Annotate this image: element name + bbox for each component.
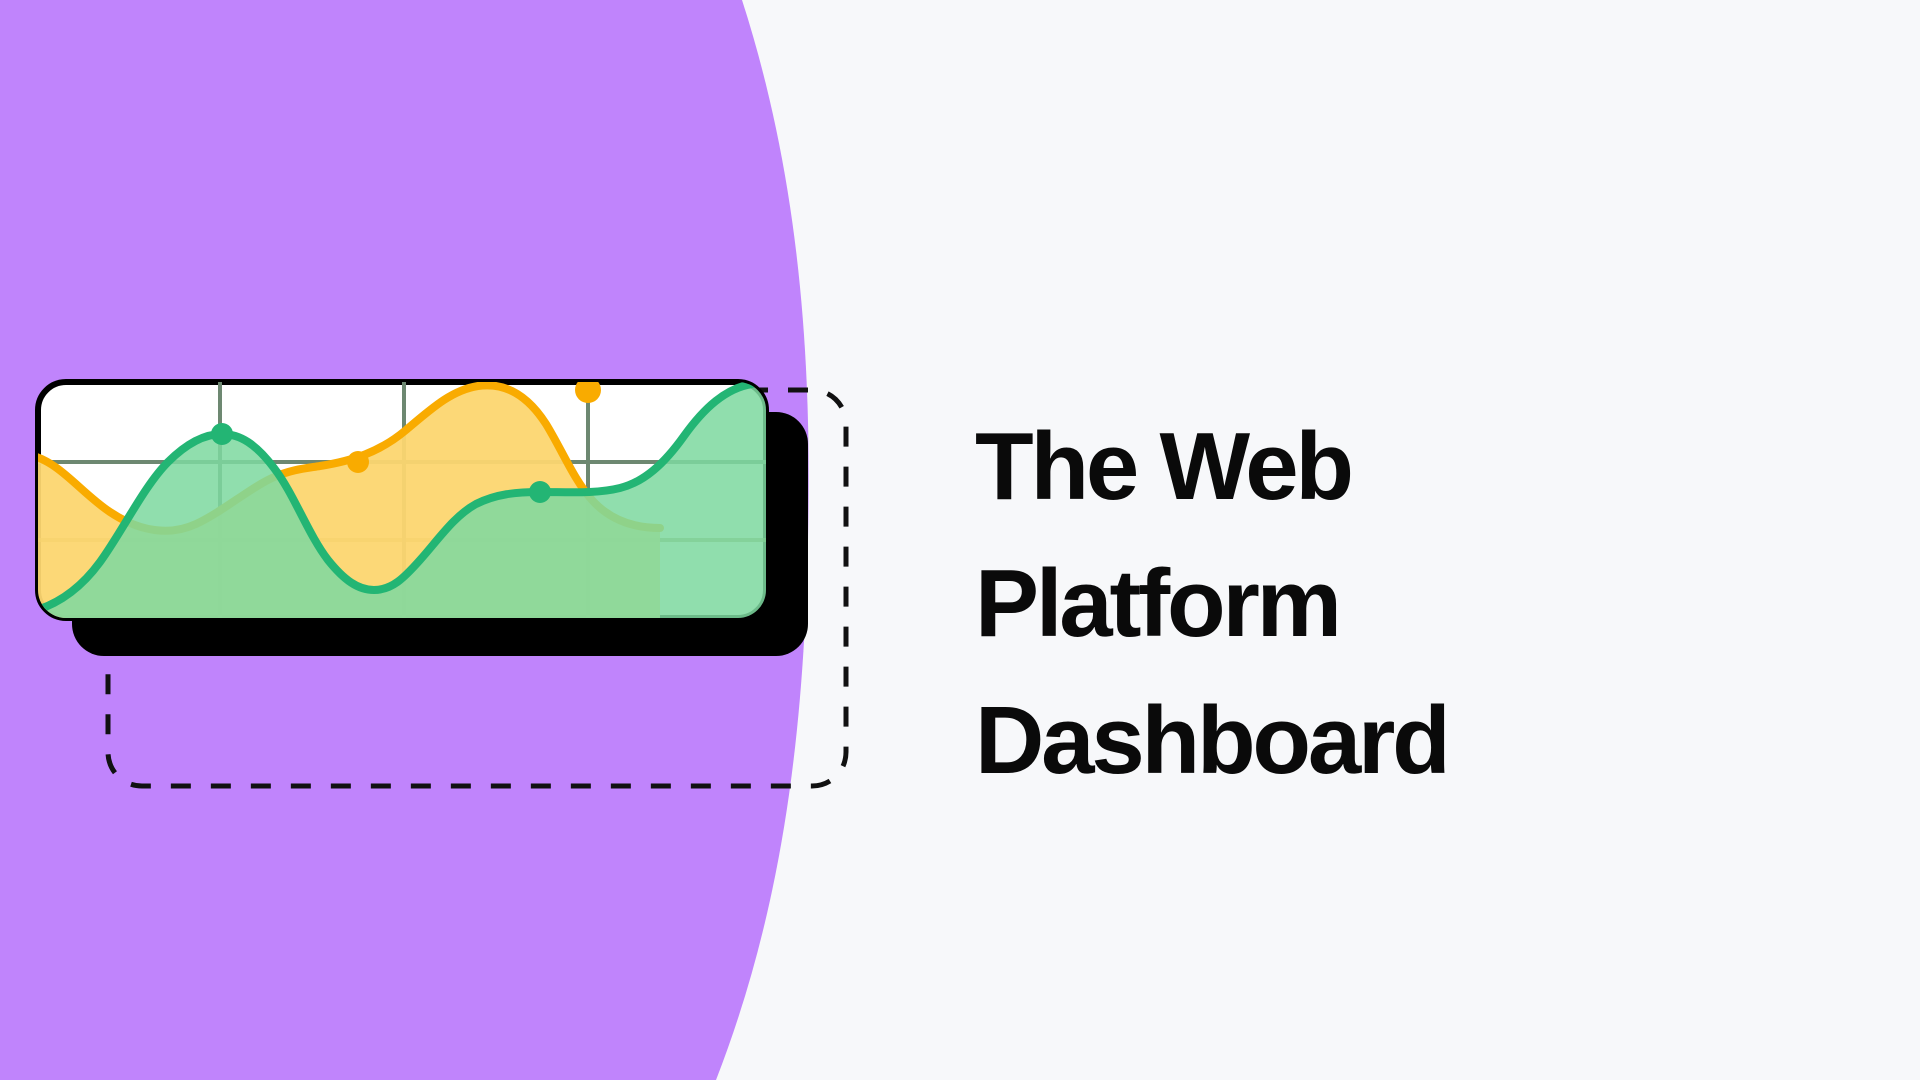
hero-banner: The Web Platform Dashboard [0, 0, 1920, 1080]
page-title-line-1: The Web [975, 398, 1775, 535]
purple-blob-path [0, 0, 809, 1080]
page-title-line-3: Dashboard [975, 672, 1775, 809]
page-title: The Web Platform Dashboard [975, 398, 1775, 809]
page-title-line-2: Platform [975, 535, 1775, 672]
